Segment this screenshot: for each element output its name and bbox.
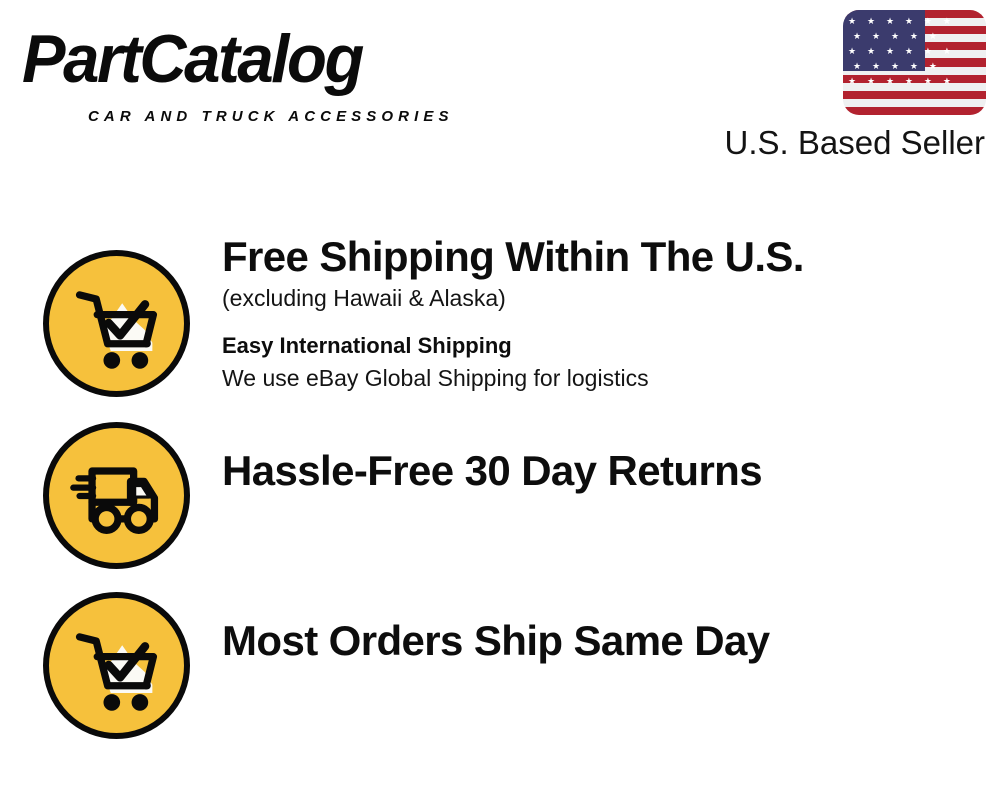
feature-sub-detail: We use eBay Global Shipping for logistic… bbox=[222, 362, 980, 394]
feature-text-block: Free Shipping Within The U.S. (excluding… bbox=[222, 232, 980, 394]
promo-banner: PartCatalog CAR AND TRUCK ACCESSORIES bbox=[0, 0, 1000, 800]
feature-headline: Most Orders Ship Same Day bbox=[222, 616, 980, 666]
feature-headline: Hassle-Free 30 Day Returns bbox=[222, 446, 980, 496]
flag-star-row: ★ ★ ★ ★ ★ ★ bbox=[848, 77, 986, 92]
us-based-seller-badge: ★ ★ ★ ★ ★ ★ ★ ★ ★ ★ ★ ★ ★ ★ ★ ★ ★ ★ ★ ★ … bbox=[724, 8, 986, 166]
feature-subnote: (excluding Hawaii & Alaska) bbox=[222, 282, 980, 314]
shopping-cart-check-icon bbox=[43, 250, 190, 397]
flag-star-row: ★ ★ ★ ★ ★ bbox=[848, 62, 986, 77]
flag-stars: ★ ★ ★ ★ ★ ★ ★ ★ ★ ★ ★ ★ ★ ★ ★ ★ ★ ★ ★ ★ … bbox=[843, 10, 986, 115]
feature-text-block: Most Orders Ship Same Day bbox=[222, 616, 980, 666]
flag-star-row: ★ ★ ★ ★ ★ ★ bbox=[848, 47, 986, 62]
feature-row: Most Orders Ship Same Day bbox=[0, 574, 1000, 744]
us-based-seller-label: U.S. Based Seller bbox=[725, 124, 985, 162]
feature-row: Free Shipping Within The U.S. (excluding… bbox=[0, 232, 1000, 412]
us-flag-icon: ★ ★ ★ ★ ★ ★ ★ ★ ★ ★ ★ ★ ★ ★ ★ ★ ★ ★ ★ ★ … bbox=[843, 10, 986, 115]
feature-text-block: Hassle-Free 30 Day Returns bbox=[222, 446, 980, 496]
brand-logo[interactable]: PartCatalog CAR AND TRUCK ACCESSORIES bbox=[22, 22, 492, 117]
feature-row: Hassle-Free 30 Day Returns bbox=[0, 404, 1000, 574]
delivery-truck-icon bbox=[43, 422, 190, 569]
flag-star-row: ★ ★ ★ ★ ★ ★ bbox=[848, 17, 986, 32]
feature-headline: Free Shipping Within The U.S. bbox=[222, 232, 980, 282]
feature-sub-heading: Easy International Shipping bbox=[222, 330, 980, 362]
brand-wordmark: PartCatalog bbox=[22, 22, 362, 96]
brand-tagline: CAR AND TRUCK ACCESSORIES bbox=[88, 108, 454, 126]
flag-star-row: ★ ★ ★ ★ ★ bbox=[848, 32, 986, 47]
shopping-cart-check-icon bbox=[43, 592, 190, 739]
